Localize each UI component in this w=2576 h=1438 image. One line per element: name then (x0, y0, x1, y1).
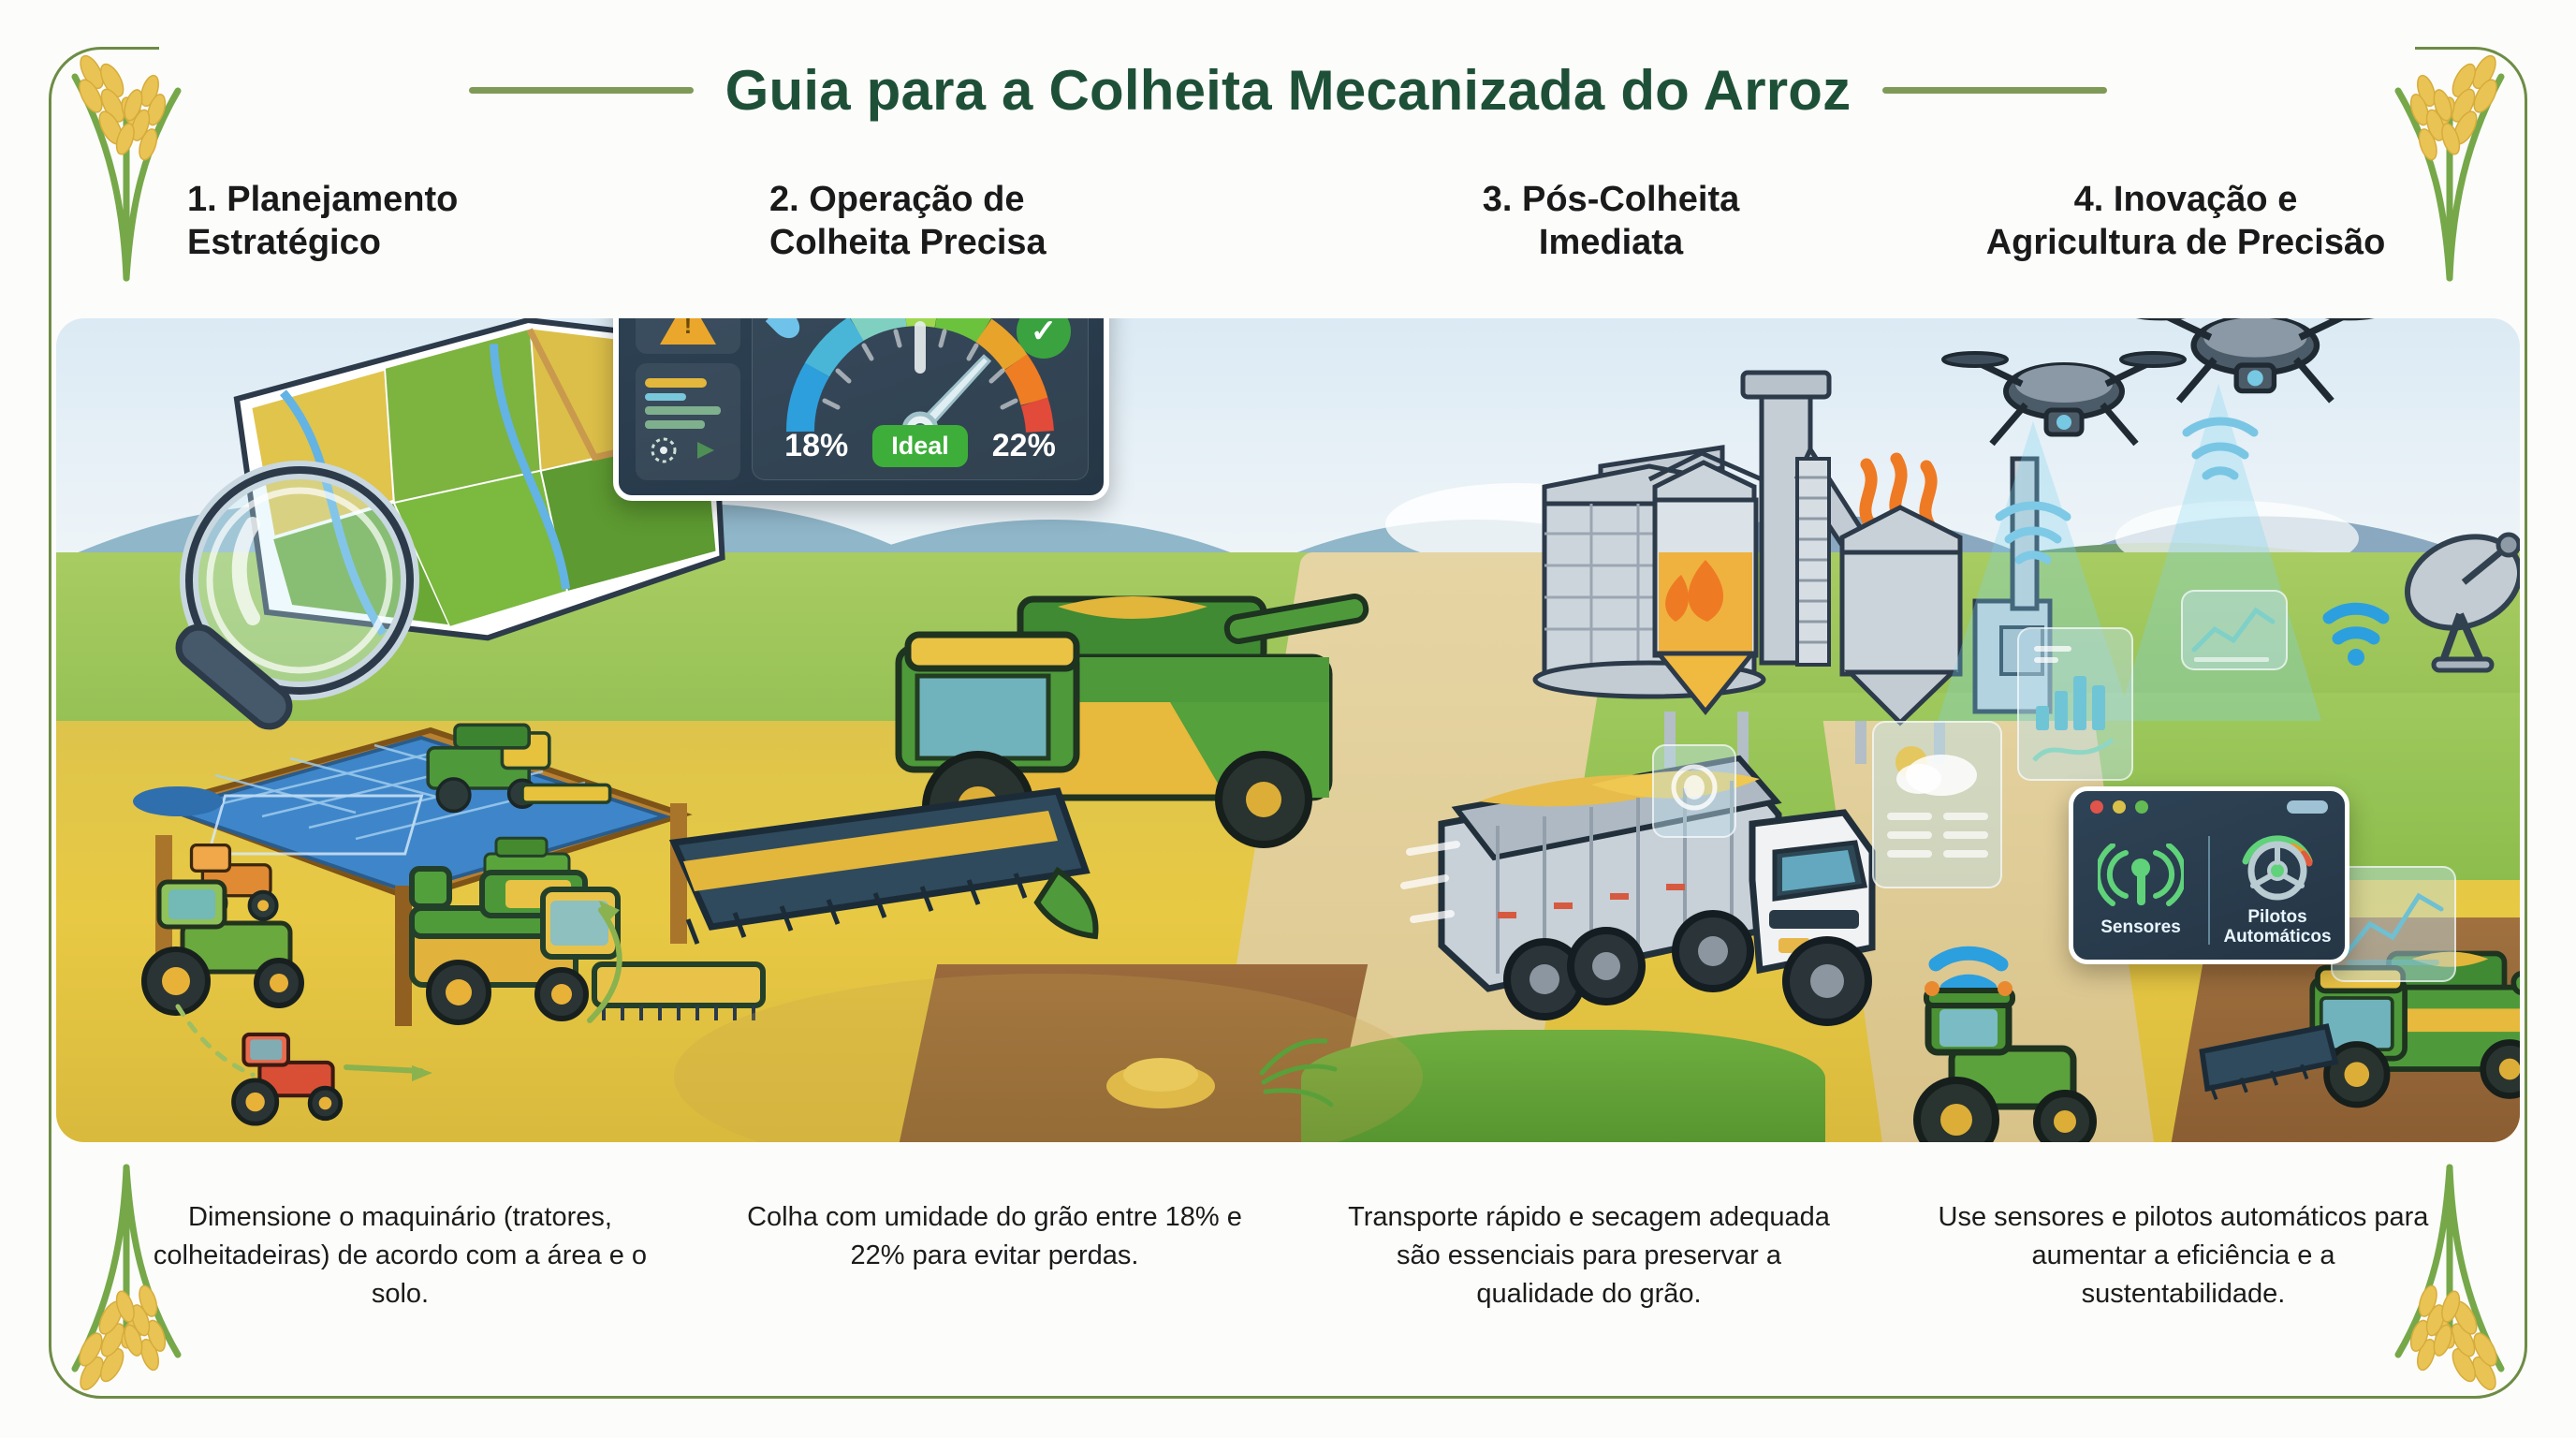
bar-chart-card-icon (2017, 627, 2133, 781)
window-dot-yellow[interactable] (2113, 800, 2126, 814)
satellite-dish-icon (2393, 521, 2520, 670)
caption-planejamento: Dimensione o maquinário (tratores, colhe… (103, 1198, 697, 1376)
steering-wheel-icon (2234, 833, 2320, 902)
panel-sidebar (636, 318, 740, 478)
poster-title-row: Guia para a Colheita Mecanizada do Arroz (0, 45, 2576, 135)
panel-body: Sensores Pilotos (2073, 821, 2345, 960)
wifi-signal-icon (1936, 953, 2001, 989)
tractor-icon (1917, 981, 2093, 1142)
page-title: Guia para a Colheita Mecanizada do Arroz (725, 58, 1851, 123)
section-heading-planejamento: 1. Planejamento Estratégico (103, 178, 741, 300)
heading-line-1: 3. Pós-Colheita (1344, 178, 1878, 221)
weather-card-icon (1872, 721, 2002, 888)
metric-bar-green-2 (645, 420, 705, 429)
window-dot-green[interactable] (2135, 800, 2148, 814)
wifi-signal-icon (2329, 609, 2383, 638)
heading-line-2: Imediata (1344, 221, 1878, 264)
gauge-min-label: 18% (784, 428, 848, 464)
gauge-area: ✓ (752, 318, 1089, 480)
sensor-antenna-icon (2098, 844, 2184, 913)
heading-line-1: 4. Inovação e (1919, 178, 2452, 221)
sensors-tile[interactable]: Sensores (2073, 821, 2208, 960)
gauge-readout: 18% Ideal 22% (753, 423, 1088, 468)
heading-line-1: 2. Operação de (769, 178, 1303, 221)
moisture-gauge-dashboard[interactable]: ✓ (613, 318, 1109, 501)
heading-line-2: Estratégico (187, 221, 721, 264)
caption-inovacao: Use sensores e pilotos automáticos para … (1886, 1198, 2481, 1376)
gauge-max-label: 22% (992, 428, 1056, 464)
trend-card-icon (2181, 590, 2288, 670)
warning-card[interactable] (636, 318, 740, 354)
heading-line-1: 1. Planejamento (187, 178, 721, 221)
panel-title-bar (2073, 791, 2345, 823)
status-badge: Ideal (872, 425, 968, 467)
heading-line-2: Agricultura de Precisão (1919, 221, 2452, 264)
status-pill (2287, 800, 2328, 814)
drone-scanning-group (1910, 318, 2520, 768)
leaf-sensor-icon (1652, 744, 1736, 838)
section-captions: Dimensione o maquinário (tratores, colhe… (103, 1198, 2481, 1376)
metric-bar-yellow (645, 378, 707, 388)
section-heading-pos-colheita: 3. Pós-Colheita Imediata (1324, 178, 1898, 300)
sensors-label: Sensores (2100, 918, 2181, 938)
illustration-band: ✓ (56, 318, 2520, 1142)
tractor-icon (234, 1034, 341, 1123)
autopilot-label-line-1: Pilotos (2223, 908, 2331, 928)
autopilot-label-line-2: Automáticos (2223, 928, 2331, 947)
precision-tech-dashboard[interactable]: Sensores Pilotos (2069, 786, 2349, 964)
caption-pos-colheita: Transporte rápido e secagem adequada são… (1292, 1198, 1886, 1376)
autopilot-label: Pilotos Automáticos (2223, 908, 2331, 947)
machinery-flow-diagram (66, 843, 721, 1142)
metrics-card[interactable] (636, 363, 740, 480)
section-heading-operacao: 2. Operação de Colheita Precisa (741, 178, 1324, 300)
title-rule-left (469, 87, 694, 94)
warning-triangle-icon (660, 318, 716, 345)
section-headings: 1. Planejamento Estratégico 2. Operação … (103, 178, 2481, 300)
drone-icon (1943, 353, 2185, 444)
window-dot-red[interactable] (2090, 800, 2103, 814)
section-heading-inovacao: 4. Inovação e Agricultura de Precisão (1898, 178, 2481, 300)
analytics-card-icon (2331, 866, 2456, 982)
heading-line-2: Colheita Precisa (769, 221, 1303, 264)
combine-harvester-icon (428, 725, 609, 811)
title-rule-right (1882, 87, 2107, 94)
tractor-icon (144, 882, 301, 1013)
metric-bar-cyan (645, 393, 686, 401)
caption-operacao: Colha com umidade do grão entre 18% e 22… (697, 1198, 1292, 1376)
settings-gear-icon[interactable] (645, 434, 725, 466)
autopilot-tile[interactable]: Pilotos Automáticos (2210, 821, 2345, 960)
infographic-poster: Guia para a Colheita Mecanizada do Arroz… (0, 0, 2576, 1438)
metric-bar-green (645, 406, 721, 415)
combine-harvester-icon (655, 552, 1442, 1142)
